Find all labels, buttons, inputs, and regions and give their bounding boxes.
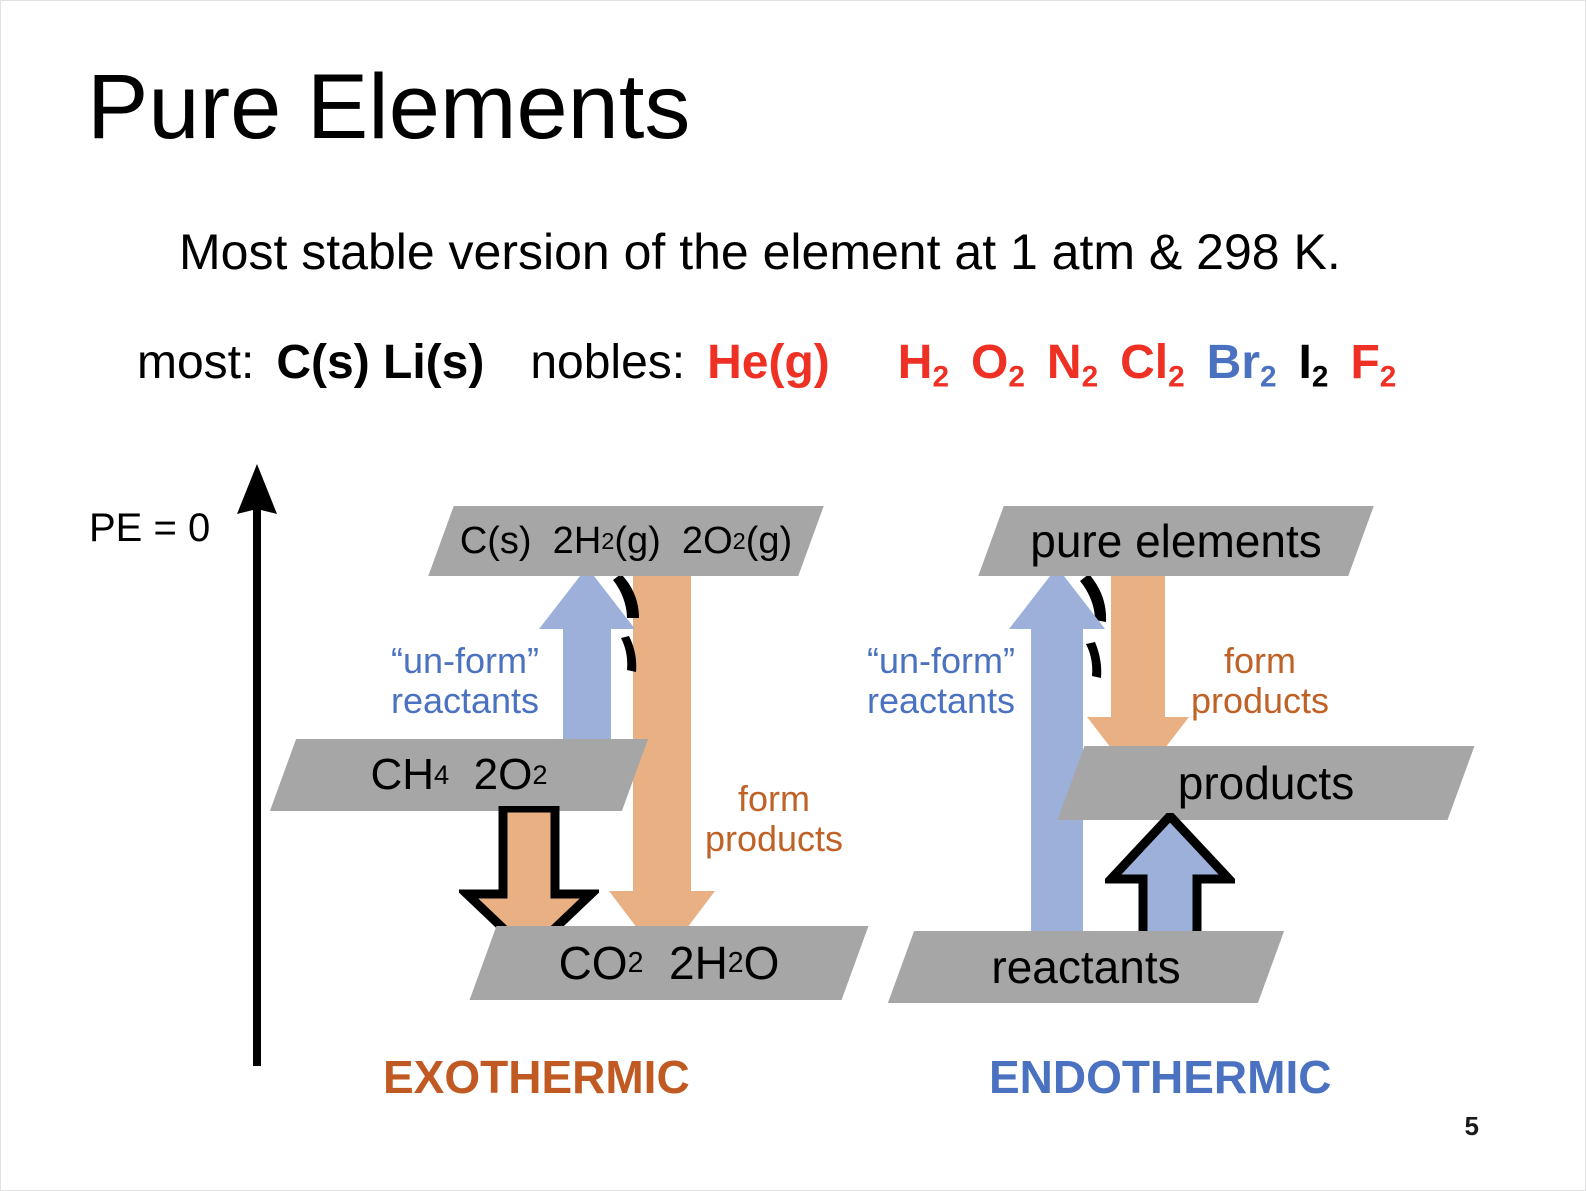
form-label-line2: products [691,819,857,859]
diatomic-h2: H2 [898,336,949,389]
platform-label-left-top: C(s) 2H2(g) 2O2(g) [441,506,811,576]
form-products-label-left: form products [691,779,857,860]
slide: Pure Elements Most stable version of the… [0,0,1586,1191]
platform-label-right-bottom: reactants [901,931,1271,1003]
unform-reactants-label-left: “un-form” reactants [375,641,555,722]
platform-products-left: CO2 2H2O [483,926,855,1000]
elements-line: most:C(s) Li(s)nobles:He(g)H2O2N2Cl2Br2I… [137,335,1396,394]
form-products-label-right: form products [1177,641,1343,722]
platform-products-right: products [1071,746,1461,820]
platform-reactants-left: CH4 2O2 [283,739,635,811]
pe-zero-label: PE = 0 [89,506,210,551]
platform-label-left-mid: CH4 2O2 [283,739,635,811]
diatomic-f2: F2 [1350,336,1396,389]
diatomic-o2: O2 [971,336,1025,389]
form-label-line1: form [691,779,857,819]
unform-label-line2: reactants [851,681,1031,721]
diatomic-i2: I2 [1299,336,1329,389]
nobles-label: nobles: [530,336,685,389]
unform-label-line1: “un-form” [851,641,1031,681]
unform-label-line1: “un-form” [375,641,555,681]
most-label: most: [137,336,254,389]
platform-pure-elements-right: pure elements [991,506,1361,576]
diatomic-cl2: Cl2 [1120,336,1185,389]
endothermic-caption: ENDOTHERMIC [989,1050,1331,1104]
form-label-line1: form [1177,641,1343,681]
page-title: Pure Elements [87,59,690,156]
most-values: C(s) Li(s) [276,336,484,389]
subtitle-text: Most stable version of the element at 1 … [179,223,1341,281]
energy-axis-arrow-icon [233,456,281,1066]
platform-label-right-mid: products [1071,746,1461,820]
unform-reactants-label-right: “un-form” reactants [851,641,1031,722]
platform-label-right-top: pure elements [991,506,1361,576]
diatomic-n2: N2 [1047,336,1098,389]
exothermic-caption: EXOTHERMIC [383,1050,690,1104]
platform-label-left-bottom: CO2 2H2O [483,926,855,1000]
unform-label-line2: reactants [375,681,555,721]
noble-value: He(g) [707,336,830,389]
platform-pure-elements-left: C(s) 2H2(g) 2O2(g) [441,506,811,576]
platform-reactants-right: reactants [901,931,1271,1003]
diatomic-br2: Br2 [1207,336,1277,389]
page-number: 5 [1465,1111,1479,1142]
form-label-line2: products [1177,681,1343,721]
